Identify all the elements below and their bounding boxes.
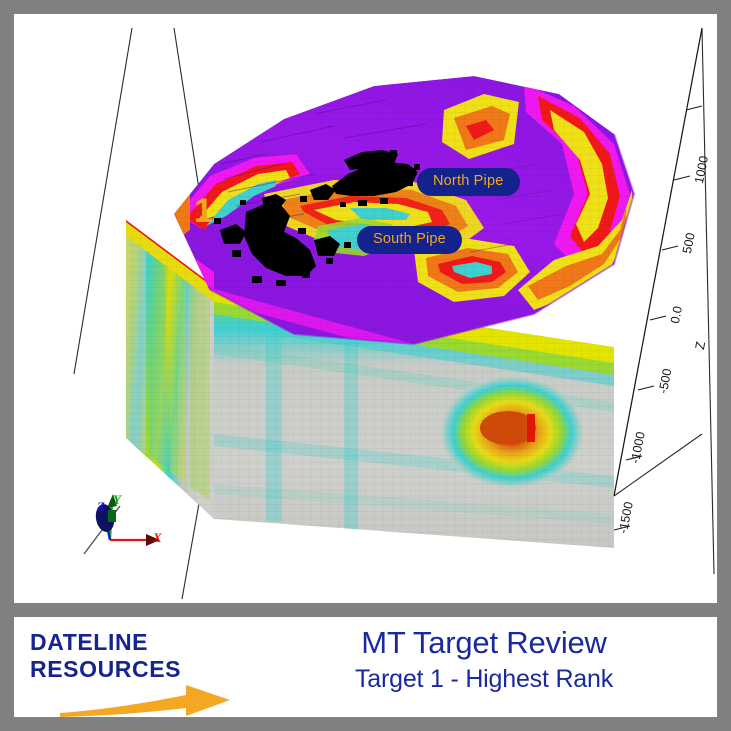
axis-triad-z-label: Z bbox=[97, 499, 105, 515]
axis-triad-x-label: X bbox=[153, 530, 162, 546]
company-logo[interactable]: DATELINE RESOURCES bbox=[30, 629, 270, 709]
slide-root: 1500 1000 500 0.0 -500 -1000 -1500 Z 1 N… bbox=[0, 0, 731, 731]
target-number-label: 1 bbox=[194, 194, 213, 228]
callout-south-pipe[interactable]: South Pipe bbox=[357, 226, 462, 254]
axis-triad-y-label: Y bbox=[113, 492, 121, 508]
voxel-model bbox=[124, 69, 644, 551]
callout-north-pipe[interactable]: North Pipe bbox=[417, 168, 520, 196]
logo-line-1: DATELINE bbox=[30, 629, 270, 656]
slide-subtitle: Target 1 - Highest Rank bbox=[264, 663, 704, 696]
z-axis bbox=[614, 28, 702, 530]
slide-title: MT Target Review bbox=[264, 623, 704, 663]
axis-triad-icon bbox=[76, 486, 186, 576]
slide-footer: DATELINE RESOURCES MT Target Review Targ… bbox=[14, 617, 717, 717]
logo-line-2: RESOURCES bbox=[30, 656, 270, 683]
model-viewport[interactable]: 1500 1000 500 0.0 -500 -1000 -1500 Z 1 N… bbox=[14, 14, 717, 603]
axis-triad: X Y Z bbox=[76, 486, 186, 576]
arrow-right-icon bbox=[58, 683, 234, 721]
slide-titles: MT Target Review Target 1 - Highest Rank bbox=[264, 623, 704, 696]
